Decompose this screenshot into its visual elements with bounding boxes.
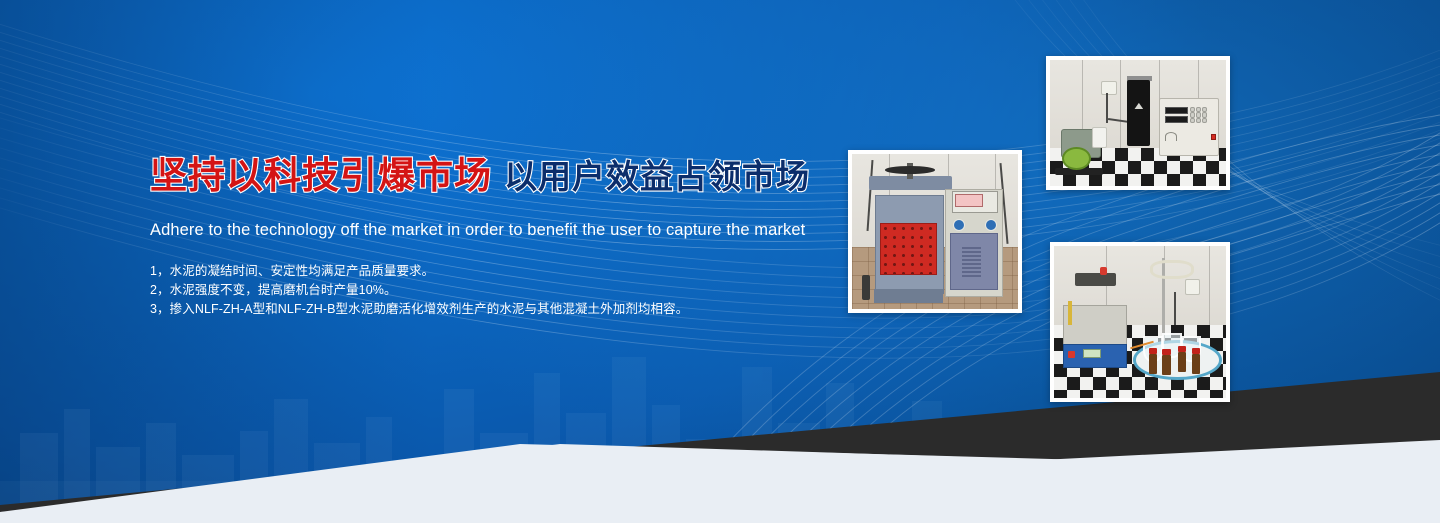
bath-indicator <box>1100 267 1107 275</box>
list-item: 3，掺入NLF-ZH-A型和NLF-ZH-B型水泥助磨活化增效剂生产的水泥与其他… <box>150 300 850 319</box>
banner-copy: 坚持以科技引爆市场以用户效益占领市场 Adhere to the technol… <box>150 158 850 319</box>
pump-flywheel <box>1062 147 1091 170</box>
cityscape-silhouette-decoration <box>0 313 1010 523</box>
readout-display <box>955 194 984 207</box>
white-bottle <box>1092 127 1106 148</box>
vial-cap <box>1149 348 1158 354</box>
stand-clamp <box>1150 260 1194 280</box>
vial-cap <box>1178 346 1187 352</box>
reagent-vial <box>1178 352 1187 372</box>
digital-display <box>1165 116 1188 123</box>
page-title: 坚持以科技引爆市场以用户效益占领市场 <box>150 158 850 195</box>
photo-compression-testing-machine[interactable] <box>848 150 1022 313</box>
photo-blaine-apparatus[interactable] <box>1046 56 1230 190</box>
digital-display <box>1165 107 1188 114</box>
list-item: 2，水泥强度不变，提高磨机台时产量10%。 <box>150 281 850 300</box>
subheadline-english: Adhere to the technology off the market … <box>150 221 850 240</box>
photo-content <box>852 154 1018 309</box>
bath-lid <box>1075 273 1116 285</box>
press-guard <box>880 223 937 275</box>
wall-socket <box>1185 279 1201 295</box>
promo-banner: 坚持以科技引爆市场以用户效益占领市场 Adhere to the technol… <box>0 0 1440 523</box>
reagent-vial <box>1149 354 1158 374</box>
list-item: 1，水泥的凝结时间、安定性均满足产品质量要求。 <box>150 262 850 281</box>
bath-display <box>1083 349 1100 359</box>
reagent-vial <box>1162 355 1171 375</box>
vial-cap <box>1162 349 1171 355</box>
headline-primary: 坚持以科技引爆市场 <box>150 156 492 197</box>
permeability-cell <box>1127 80 1150 146</box>
dial-gauge <box>1165 132 1177 141</box>
feature-bullet-list: 1，水泥的凝结时间、安定性均满足产品质量要求。 2，水泥强度不变，提高磨机台时产… <box>150 262 850 319</box>
vial-cap <box>1192 348 1201 354</box>
photo-content <box>1050 60 1226 186</box>
control-knob <box>985 219 997 231</box>
reagent-vial <box>1192 354 1201 374</box>
headline-secondary: 以用户效益占领市场 <box>504 160 810 196</box>
wall-socket <box>1101 81 1117 94</box>
bath-gauge <box>1068 301 1072 325</box>
power-switch <box>1068 351 1075 359</box>
photo-dissolution-rig[interactable] <box>1050 242 1230 402</box>
press-base <box>874 289 944 303</box>
controller-box <box>1159 98 1219 157</box>
photo-content <box>1054 246 1226 398</box>
power-indicator <box>1211 134 1216 140</box>
